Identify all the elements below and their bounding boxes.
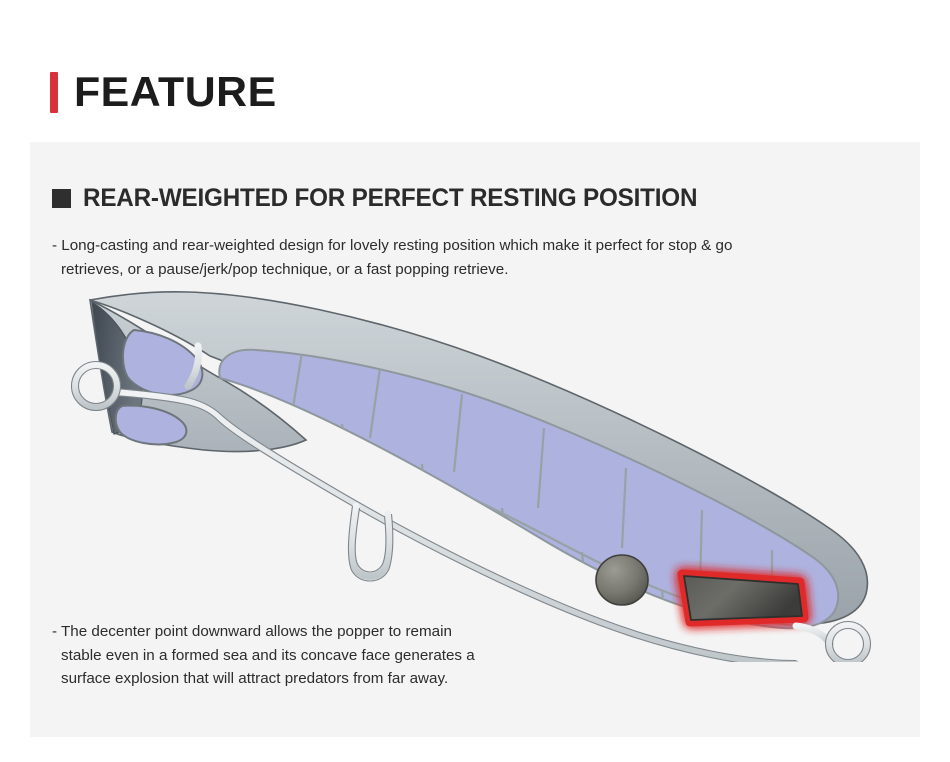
ball-weight <box>596 555 648 605</box>
feature-heading-label: REAR-WEIGHTED FOR PERFECT RESTING POSITI… <box>83 184 697 213</box>
page-root: FEATURE REAR-WEIGHTED FOR PERFECT RESTIN… <box>0 0 950 762</box>
tail-eyelet <box>796 622 871 663</box>
square-bullet-icon <box>52 189 71 208</box>
title-label: FEATURE <box>74 71 277 113</box>
feature-panel: REAR-WEIGHTED FOR PERFECT RESTING POSITI… <box>30 142 920 737</box>
rear-weight-block <box>682 574 804 622</box>
decenter-point-description: - The decenter point downward allows the… <box>52 620 621 691</box>
belly-hanger-loop <box>348 506 392 581</box>
title-accent-bar <box>50 72 58 113</box>
long-casting-description: - Long-casting and rear-weighted design … <box>52 234 911 281</box>
rear-weight-core <box>684 576 802 620</box>
popper-lure-cutaway <box>70 282 900 662</box>
nose-line-tie-eyelet <box>72 362 121 411</box>
page-title: FEATURE <box>50 64 273 120</box>
feature-heading: REAR-WEIGHTED FOR PERFECT RESTING POSITI… <box>52 184 716 213</box>
